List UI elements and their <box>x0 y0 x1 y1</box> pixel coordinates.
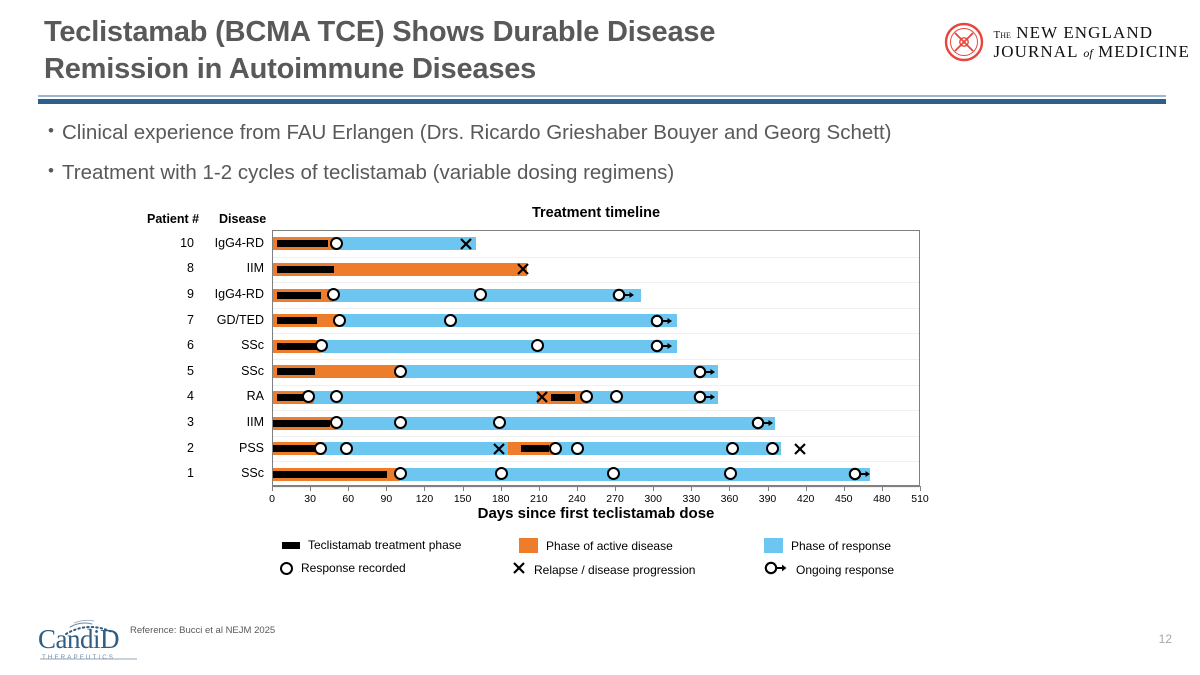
patient-number: 10 <box>140 232 194 254</box>
axis-tick-label: 210 <box>530 493 548 505</box>
marker-ongoing-response <box>650 339 674 353</box>
legend-item-response-phase: Phase of response <box>764 538 891 553</box>
candid-therapeutics-logo: CandiD THERAPEUTICS <box>36 618 141 666</box>
marker-response-recorded <box>474 288 487 301</box>
axis-tick <box>501 486 502 491</box>
candid-tagline: THERAPEUTICS <box>42 654 115 661</box>
page-number: 12 <box>1159 632 1172 646</box>
marker-response-recorded <box>394 467 407 480</box>
chart-gridline <box>273 487 919 488</box>
axis-tick-label: 510 <box>911 493 929 505</box>
chart-gridline <box>273 359 919 360</box>
bullet-text: Clinical experience from FAU Erlangen (D… <box>62 120 1090 146</box>
slide-root: Teclistamab (BCMA TCE) Shows Durable Dis… <box>0 0 1200 675</box>
bar-segment-treatment <box>551 394 575 401</box>
bar-segment-treatment <box>273 445 320 452</box>
list-item: • Clinical experience from FAU Erlangen … <box>40 120 1090 146</box>
disease-name: IgG4-RD <box>198 283 264 305</box>
nejm-logo: The NEW ENGLAND JOURNAL of MEDICINE <box>944 22 1190 62</box>
nejm-of: of <box>1083 46 1092 60</box>
marker-response-recorded <box>394 365 407 378</box>
disease-name: GD/TED <box>198 309 264 331</box>
bar-segment-treatment <box>277 266 334 273</box>
bar-segment-treatment <box>277 292 321 299</box>
nejm-medicine: MEDICINE <box>1098 42 1190 61</box>
axis-tick-label: 240 <box>568 493 586 505</box>
bar-segment-response <box>400 365 718 378</box>
axis-tick-label: 420 <box>797 493 815 505</box>
patient-number: 6 <box>140 334 194 356</box>
axis-tick <box>920 486 921 491</box>
treatment-swatch-icon <box>282 542 300 549</box>
axis-tick <box>882 486 883 491</box>
marker-response-recorded <box>444 314 457 327</box>
bullet-dot-icon: • <box>40 160 62 186</box>
legend-item-response-recorded: Response recorded <box>280 561 406 575</box>
bar-segment-treatment <box>273 420 330 427</box>
patient-number: 4 <box>140 385 194 407</box>
circle-marker-icon <box>280 562 293 575</box>
bar-segment-response <box>314 391 538 404</box>
axis-tick <box>806 486 807 491</box>
legend-label: Ongoing response <box>796 563 894 577</box>
chart-title: Treatment timeline <box>272 205 920 221</box>
axis-tick-label: 150 <box>454 493 472 505</box>
bar-segment-treatment <box>521 445 549 452</box>
patient-number: 1 <box>140 462 194 484</box>
marker-response-recorded <box>330 416 343 429</box>
marker-response-recorded <box>766 442 779 455</box>
list-item: • Treatment with 1-2 cycles of teclistam… <box>40 160 1090 186</box>
nejm-journal: JOURNAL <box>994 42 1079 61</box>
axis-tick <box>577 486 578 491</box>
marker-ongoing-response <box>612 288 636 302</box>
marker-response-recorded <box>493 416 506 429</box>
marker-response-recorded <box>315 339 328 352</box>
bar-segment-treatment <box>277 317 318 324</box>
bar-segment-response <box>339 314 677 327</box>
axis-tick <box>615 486 616 491</box>
marker-response-recorded <box>610 390 623 403</box>
axis-tick-label: 390 <box>759 493 777 505</box>
marker-response-recorded <box>394 416 407 429</box>
chart-gridline <box>273 257 919 258</box>
legend-label: Teclistamab treatment phase <box>308 538 461 552</box>
bar-segment-treatment <box>277 240 328 247</box>
legend-label: Phase of response <box>791 539 891 553</box>
chart-x-axis: 0306090120150180210240270300330360390420… <box>272 486 920 487</box>
axis-tick-label: 60 <box>342 493 354 505</box>
patient-number: 7 <box>140 309 194 331</box>
axis-tick <box>424 486 425 491</box>
marker-response-recorded <box>726 442 739 455</box>
disease-name: PSS <box>198 437 264 459</box>
axis-tick-label: 450 <box>835 493 853 505</box>
patient-number: 3 <box>140 411 194 433</box>
axis-tick <box>729 486 730 491</box>
chart-row-labels: 10IgG4-RD8IIM9IgG4-RD7GD/TED6SSc5SSc4RA3… <box>140 230 268 486</box>
axis-tick <box>539 486 540 491</box>
legend-label: Phase of active disease <box>546 539 673 553</box>
marker-response-recorded <box>571 442 584 455</box>
axis-tick-label: 0 <box>269 493 275 505</box>
axis-tick-label: 180 <box>492 493 510 505</box>
axis-tick <box>463 486 464 491</box>
axis-tick <box>691 486 692 491</box>
axis-tick-label: 270 <box>606 493 624 505</box>
marker-response-recorded <box>724 467 737 480</box>
nejm-wordmark: The NEW ENGLAND JOURNAL of MEDICINE <box>994 23 1190 61</box>
candid-wordmark: CandiD <box>38 624 119 655</box>
bullet-list: • Clinical experience from FAU Erlangen … <box>40 120 1090 199</box>
reference-text: Reference: Bucci et al NEJM 2025 <box>130 625 275 636</box>
disease-name: SSc <box>198 462 264 484</box>
axis-tick <box>653 486 654 491</box>
chart-gridline <box>273 410 919 411</box>
marker-ongoing-response <box>693 390 717 404</box>
legend-item-treatment: Teclistamab treatment phase <box>282 538 461 552</box>
disease-name: SSc <box>198 360 264 382</box>
marker-response-recorded <box>531 339 544 352</box>
patient-number: 9 <box>140 283 194 305</box>
patient-number: 2 <box>140 437 194 459</box>
bullet-text: Treatment with 1-2 cycles of teclistamab… <box>62 160 1090 186</box>
axis-tick <box>348 486 349 491</box>
axis-tick-label: 480 <box>873 493 891 505</box>
marker-relapse <box>535 390 549 404</box>
bar-segment-treatment <box>273 471 387 478</box>
chart-gridline <box>273 282 919 283</box>
marker-relapse <box>492 442 506 456</box>
response-swatch-icon <box>764 538 783 553</box>
legend-label: Relapse / disease progression <box>534 563 695 577</box>
patient-number: 8 <box>140 257 194 279</box>
axis-tick-label: 120 <box>416 493 434 505</box>
axis-tick <box>768 486 769 491</box>
disease-name: SSc <box>198 334 264 356</box>
axis-tick-label: 360 <box>721 493 739 505</box>
chart-gridline <box>273 385 919 386</box>
bar-segment-response <box>400 468 870 481</box>
header-divider <box>38 95 1166 104</box>
marker-relapse <box>516 262 530 276</box>
disease-name: IgG4-RD <box>198 232 264 254</box>
marker-ongoing-response <box>848 467 872 481</box>
bar-segment-treatment <box>277 343 318 350</box>
axis-tick-label: 90 <box>381 493 393 505</box>
bar-segment-treatment <box>277 368 315 375</box>
chart-x-axis-label: Days since first teclistamab dose <box>272 505 920 522</box>
disease-name: IIM <box>198 411 264 433</box>
disease-name: IIM <box>198 257 264 279</box>
column-header-patient: Patient # <box>147 212 199 226</box>
bar-segment-response <box>555 442 781 455</box>
axis-tick-label: 300 <box>644 493 662 505</box>
axis-tick <box>272 486 273 491</box>
marker-ongoing-response <box>751 416 775 430</box>
axis-tick <box>310 486 311 491</box>
marker-response-recorded <box>333 314 346 327</box>
marker-response-recorded <box>314 442 327 455</box>
marker-relapse <box>793 442 807 456</box>
marker-response-recorded <box>340 442 353 455</box>
chart-gridline <box>273 436 919 437</box>
nejm-the: The <box>994 29 1011 41</box>
x-marker-icon <box>512 561 526 578</box>
page-title: Teclistamab (BCMA TCE) Shows Durable Dis… <box>44 14 824 88</box>
axis-tick <box>844 486 845 491</box>
axis-tick-label: 330 <box>683 493 701 505</box>
marker-relapse <box>459 237 473 251</box>
chart-gridline <box>273 461 919 462</box>
legend-item-ongoing: Ongoing response <box>764 561 894 578</box>
legend-item-active-disease: Phase of active disease <box>519 538 673 553</box>
axis-tick-label: 30 <box>304 493 316 505</box>
bar-segment-response <box>334 289 641 302</box>
marker-ongoing-response <box>650 314 674 328</box>
bar-segment-response <box>337 237 477 250</box>
bullet-dot-icon: • <box>40 120 62 146</box>
treatment-timeline-chart: Treatment timeline Patient # Disease 10I… <box>0 200 1200 600</box>
patient-number: 5 <box>140 360 194 382</box>
axis-tick <box>386 486 387 491</box>
chart-gridline <box>273 333 919 334</box>
marker-response-recorded <box>330 237 343 250</box>
chart-gridline <box>273 308 919 309</box>
nejm-new-england: NEW ENGLAND <box>1016 23 1153 42</box>
nejm-seal-icon <box>944 22 984 62</box>
legend-label: Response recorded <box>301 561 406 575</box>
ongoing-marker-icon <box>764 561 788 578</box>
chart-plot-area <box>272 230 920 486</box>
disease-name: RA <box>198 385 264 407</box>
legend-item-relapse: Relapse / disease progression <box>512 561 695 578</box>
bar-segment-response <box>321 340 677 353</box>
marker-ongoing-response <box>693 365 717 379</box>
marker-response-recorded <box>549 442 562 455</box>
column-header-disease: Disease <box>219 212 266 226</box>
active-disease-swatch-icon <box>519 538 538 553</box>
